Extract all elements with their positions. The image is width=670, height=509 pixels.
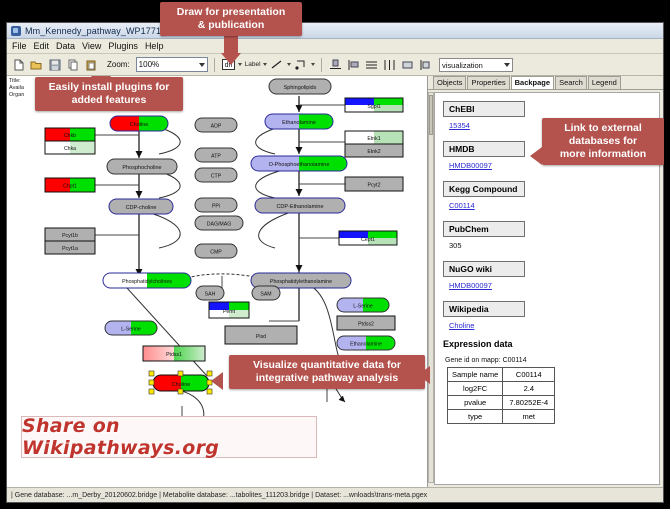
tab-backpage[interactable]: Backpage [511,76,554,89]
node-pemt: Pemt [209,302,249,318]
db-header-wikipedia: Wikipedia [443,301,525,317]
db-header-kegg-compound: Kegg Compound [443,181,525,197]
svg-text:Sphingolipids: Sphingolipids [284,85,317,91]
svg-text:Chka: Chka [64,146,76,152]
node-ethanolamine-top: Ethanolamine [265,114,333,129]
callout-plugins: Easily install plugins for added feature… [35,77,183,111]
db-link-kegg-compound[interactable]: C00114 [449,201,651,210]
svg-text:Pcyt1a: Pcyt1a [62,246,78,252]
node-pcyt2: Pcyt2 [345,177,403,191]
expr-key-type: type [448,410,503,424]
svg-text:O-Phosphoethanolamine: O-Phosphoethanolamine [269,162,330,168]
expr-val-log2fc: 2.4 [503,382,555,396]
db-header-hmdb: HMDB [443,141,525,157]
callout-plugins-arrow [91,76,111,77]
tab-search[interactable]: Search [555,76,587,89]
callout-visualize-line1: Visualize quantitative data for [236,359,418,372]
menu-item-file[interactable]: File [12,41,27,51]
callout-plugins-line1: Easily install plugins for [42,81,176,94]
tab-legend[interactable]: Legend [588,76,621,89]
callout-links-line1: Link to external [549,122,657,135]
status-bar: | Gene database: ...m_Derby_20120602.bri… [7,487,663,502]
expression-data-heading: Expression data [443,339,651,349]
align-left-icon[interactable] [346,57,361,72]
db-link-wikipedia[interactable]: Choline [449,321,651,330]
db-value-pubchem: 305 [449,241,651,250]
callout-visualize-arrow [211,372,223,390]
scrollbar-thumb[interactable] [429,95,433,135]
zoom-value: 100% [139,60,159,69]
node-pisd: Pisd [225,326,297,344]
node-cdp-choline: CDP-choline [109,199,173,214]
toolbar-separator-2 [321,58,322,72]
expr-val-sample-name: C00114 [503,368,555,382]
svg-text:Choline: Choline [130,122,149,128]
table-row: type met [448,410,555,424]
svg-text:Pemt: Pemt [223,309,236,315]
paste-icon[interactable] [83,57,98,72]
callout-expression-arrow [418,366,430,384]
expr-key-log2fc: log2FC [448,382,503,396]
zoom-combobox[interactable]: 100% [136,57,208,72]
svg-text:Etnk1: Etnk1 [367,136,380,142]
callout-links-line3: more information [549,148,657,161]
node-ptdss2: Ptdss2 [337,316,395,330]
db-header-nugo-wiki: NuGO wiki [443,261,525,277]
node-ppi: PPi [195,198,237,212]
stack-icon[interactable] [364,57,379,72]
callout-draw-line2: & publication [167,19,295,32]
expr-key-pvalue: pvalue [448,396,503,410]
node-chpt1: Chpt1 [45,178,95,192]
node-ethanolamine-right: Ethanolamine [337,336,395,350]
node-chka: Chka [45,141,95,154]
svg-text:PPi: PPi [212,204,220,210]
expr-val-pvalue: 7.80252E-4 [503,396,555,410]
callout-draw: Draw for presentation & publication [160,2,302,36]
menu-item-edit[interactable]: Edit [34,41,50,51]
callout-visualize-line2: integrative pathway analysis [236,372,418,385]
node-adp: ADP [195,118,237,132]
app-icon [11,26,21,36]
svg-text:SAH: SAH [205,292,216,298]
svg-text:Ethanolamine: Ethanolamine [282,120,316,126]
node-sphingolipids: Sphingolipids [269,79,331,94]
node-sah: SAH [196,286,224,300]
svg-text:CDP-choline: CDP-choline [126,205,157,211]
toolbar-separator [214,58,215,72]
callout-links: Link to external databases for more info… [542,118,664,165]
menu-item-view[interactable]: View [82,41,101,51]
order-icon[interactable] [418,57,433,72]
svg-text:Ptdss1: Ptdss1 [166,352,182,358]
callout-visualize: Visualize quantitative data for integrat… [229,355,425,389]
pathway-diagram: Sphingolipids Ethanolamine O-Phosphoetha… [7,76,428,466]
tab-properties[interactable]: Properties [467,76,509,89]
node-o-phosphoethanolamine: O-Phosphoethanolamine [251,156,347,171]
group-icon[interactable] [400,57,415,72]
node-l-serine-right: L-Serine [337,298,389,312]
label-tool-label: Label [245,61,261,68]
expr-key-sample-name: Sample name [448,368,503,382]
pathvisio-window: Mm_Kennedy_pathway_WP1771_45176.gpml Fil… [6,22,664,503]
svg-text:Pcyt1b: Pcyt1b [62,233,78,239]
node-choline-top: Choline [110,116,168,131]
node-pcyt1b: Pcyt1b [45,228,95,241]
db-link-nugo-wiki[interactable]: HMDB00097 [449,281,651,290]
share-banner: Share on Wikipathways.org [21,416,317,458]
node-dag-mag: DAG/MAG [195,216,243,230]
node-atp: ATP [195,148,237,162]
line-icon[interactable] [270,57,285,72]
svg-text:L-Serine: L-Serine [353,304,373,310]
label-tool[interactable]: Label [245,61,267,68]
shape-tool[interactable] [294,57,315,72]
node-pcyt1a: Pcyt1a [45,241,95,254]
save-icon[interactable] [47,57,62,72]
svg-text:SAM: SAM [260,292,271,298]
node-phosphocholine: Phosphocholine [107,159,177,174]
line-tool[interactable] [270,57,291,72]
table-row: Sample name C00114 [448,368,555,382]
node-ctp: CTP [195,168,237,182]
pathway-canvas[interactable]: Title: Availa Organ [7,76,428,487]
node-ptdss1: Ptdss1 [143,346,205,361]
shape-icon[interactable] [294,57,309,72]
svg-text:Choline: Choline [172,382,191,388]
tab-objects[interactable]: Objects [433,76,466,89]
svg-text:Phosphocholine: Phosphocholine [122,165,161,171]
menu-bar: File Edit Data View Plugins Help [7,39,663,54]
align-bottom-icon[interactable] [328,57,343,72]
svg-text:L-Serine: L-Serine [121,327,141,333]
callout-draw-stem [224,36,238,54]
title-bar: Mm_Kennedy_pathway_WP1771_45176.gpml [7,23,663,39]
svg-text:ATP: ATP [211,154,221,160]
visualization-value: visualization [442,61,483,70]
expression-table: Sample name C00114 log2FC 2.4 pvalue 7.8… [447,367,555,424]
svg-text:Sgpl1: Sgpl1 [367,104,380,110]
svg-text:ADP: ADP [211,124,222,130]
callout-links-arrow [530,147,542,165]
svg-text:CMP: CMP [210,250,222,256]
node-l-serine-left: L-Serine [105,321,157,335]
db-header-pubchem: PubChem [443,221,525,237]
svg-text:Chkb: Chkb [64,133,76,139]
menu-item-plugins[interactable]: Plugins [108,41,138,51]
node-cept1: Cept1 [339,231,397,245]
node-cmp: CMP [195,244,237,258]
visualization-combobox[interactable]: visualization [439,58,513,72]
expr-val-type: met [503,410,555,424]
db-header-chebi: ChEBI [443,101,525,117]
svg-text:Ethanolamine: Ethanolamine [350,342,382,348]
svg-text:Phosphatidylcholines: Phosphatidylcholines [122,279,172,285]
svg-text:CDP-Ethanolamine: CDP-Ethanolamine [276,204,323,210]
chevron-down-icon [504,63,510,67]
chevron-down-icon[interactable] [311,63,315,66]
node-sgpl1: Sgpl1 [345,98,403,112]
svg-text:Phosphatidylethanolamine: Phosphatidylethanolamine [270,279,332,285]
node-choline-selected: Choline [149,371,212,394]
node-cdp-ethanolamine: CDP-Ethanolamine [255,198,345,213]
copy-icon[interactable] [65,57,80,72]
menu-item-data[interactable]: Data [56,41,75,51]
menu-item-help[interactable]: Help [145,41,164,51]
svg-text:CTP: CTP [211,174,222,180]
node-phosphatidylcholines: Phosphatidylcholines [103,273,191,288]
node-etnk2: Etnk2 [345,144,403,157]
callout-plugins-line2: added features [42,94,176,107]
new-file-icon[interactable] [11,57,26,72]
callout-draw-line1: Draw for presentation [167,6,295,19]
status-bar-text: | Gene database: ...m_Derby_20120602.bri… [11,492,427,499]
svg-text:Pisd: Pisd [256,334,266,340]
callout-draw-arrow [221,53,241,65]
node-chkb: Chkb [45,128,95,141]
share-banner-text: Share on Wikipathways.org [22,415,316,459]
table-row: pvalue 7.80252E-4 [448,396,555,410]
distribute-icon[interactable] [382,57,397,72]
svg-text:Etnk2: Etnk2 [367,149,380,155]
chevron-down-icon[interactable] [287,63,291,66]
svg-text:Ptdss2: Ptdss2 [358,322,374,328]
chevron-down-icon [199,63,205,67]
node-etnk1: Etnk1 [345,131,403,144]
node-sam: SAM [252,286,280,300]
chevron-down-icon[interactable] [263,63,267,66]
toolbar: Zoom: 100% dn Label [7,54,663,76]
side-panel-tabs: Objects Properties Backpage Search Legen… [428,76,663,90]
svg-text:Pcyt2: Pcyt2 [368,183,381,189]
zoom-label: Zoom: [107,60,130,69]
table-row: log2FC 2.4 [448,382,555,396]
gene-id-label: Gene id on mapp: C00114 [445,357,651,364]
open-folder-icon[interactable] [29,57,44,72]
svg-text:Cept1: Cept1 [361,237,375,243]
svg-text:DAG/MAG: DAG/MAG [207,222,232,228]
svg-text:Chpt1: Chpt1 [63,184,77,190]
callout-links-line2: databases for [549,135,657,148]
